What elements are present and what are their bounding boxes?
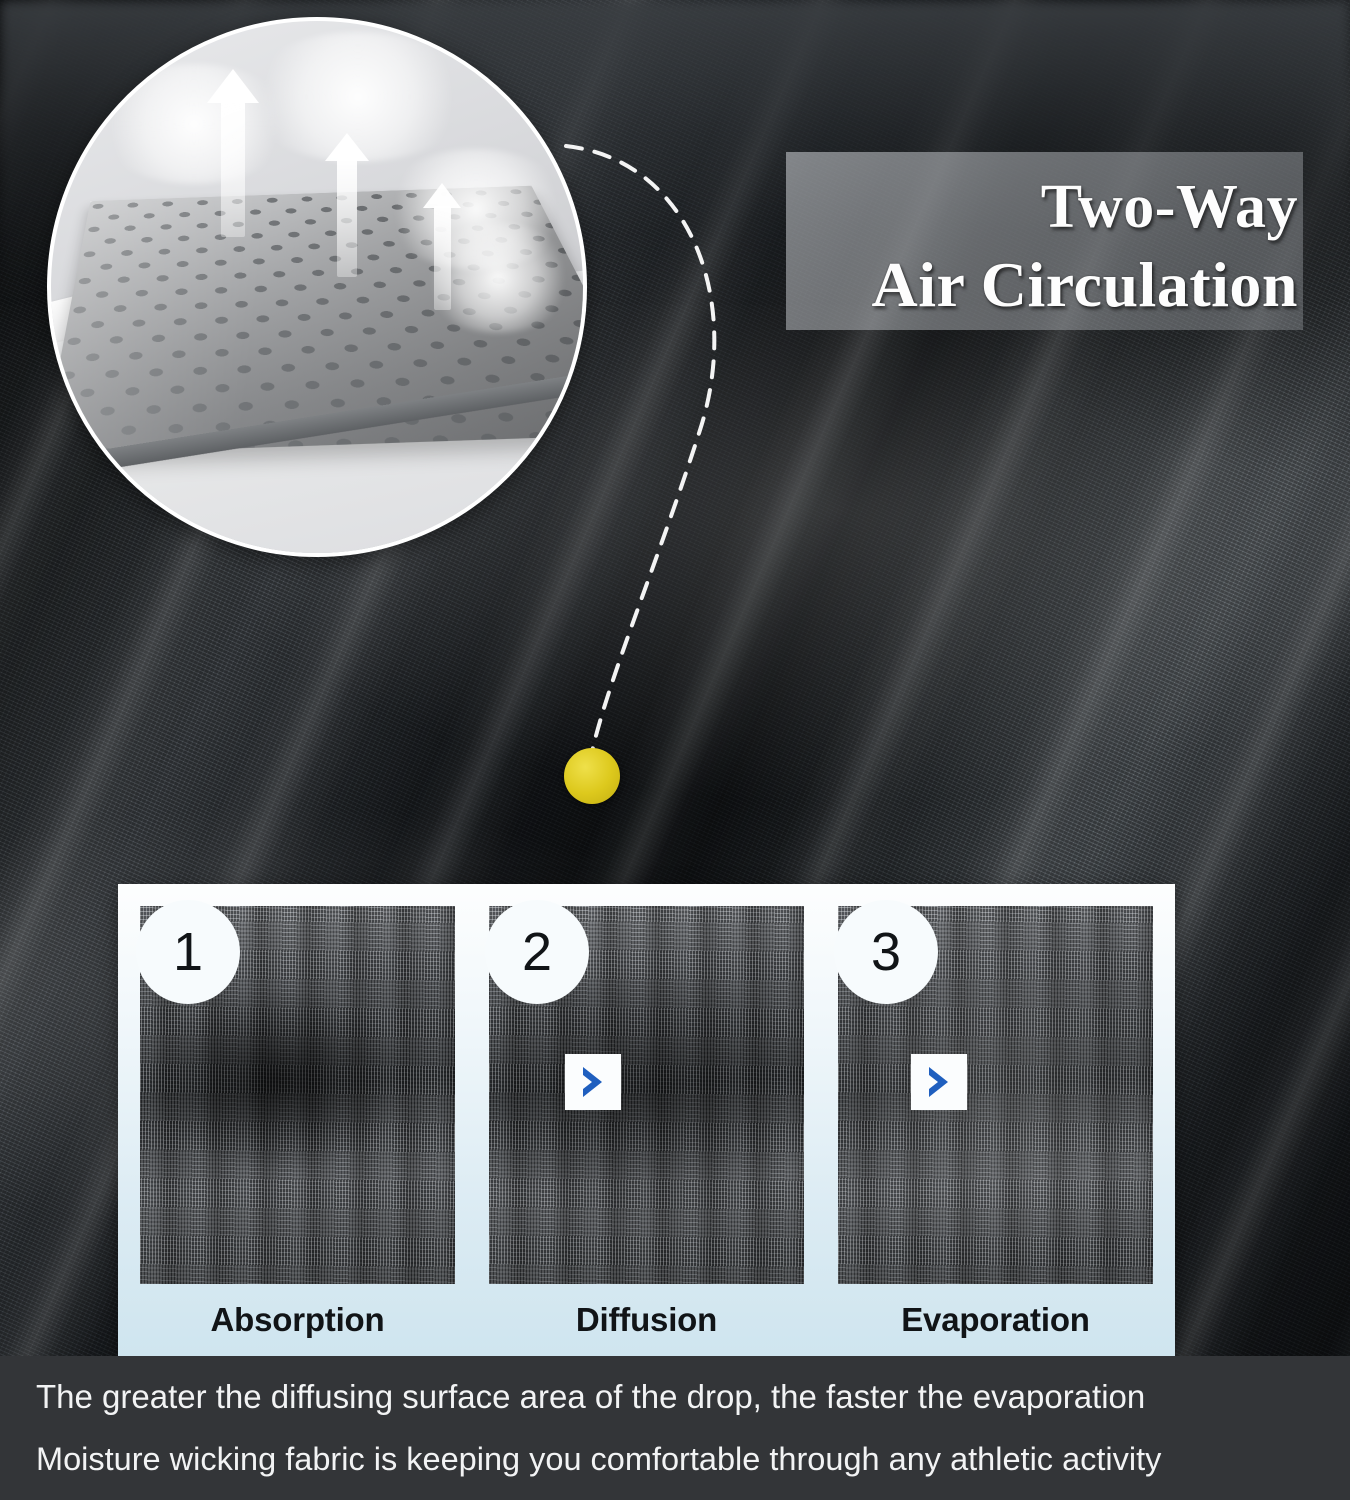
page-title: Two-Way Air Circulation — [700, 168, 1350, 324]
footer-caption: The greater the diffusing surface area o… — [0, 1356, 1350, 1500]
chevron-right-icon-2 — [911, 1054, 967, 1110]
step-2-number-badge: 2 — [485, 900, 589, 1004]
step-2-label: Diffusion — [489, 1301, 804, 1339]
title-line-1: Two-Way — [700, 168, 1298, 246]
steps-label-row: Absorption Diffusion Evaporation — [118, 1284, 1175, 1356]
title-line-2: Air Circulation — [700, 246, 1298, 324]
step-3-label: Evaporation — [838, 1301, 1153, 1339]
step-evaporation: 3 — [838, 906, 1153, 1284]
zoom-marker-dot — [564, 748, 620, 804]
product-infographic: Two-Way Air Circulation 1 2 3 — [0, 0, 1350, 1500]
step-1-label: Absorption — [140, 1301, 455, 1339]
step-3-number-badge: 3 — [834, 900, 938, 1004]
step-1-number-badge: 1 — [136, 900, 240, 1004]
footer-caption-line-2: Moisture wicking fabric is keeping you c… — [36, 1428, 1314, 1490]
step-diffusion: 2 — [489, 906, 804, 1284]
steps-image-row: 1 2 3 — [118, 884, 1175, 1284]
footer-caption-line-1: The greater the diffusing surface area o… — [36, 1366, 1314, 1428]
step-absorption: 1 — [140, 906, 455, 1284]
moisture-process-panel: 1 2 3 Absorption D — [118, 884, 1175, 1356]
chevron-right-icon-1 — [565, 1054, 621, 1110]
fabric-cross-section-inset — [47, 17, 587, 557]
